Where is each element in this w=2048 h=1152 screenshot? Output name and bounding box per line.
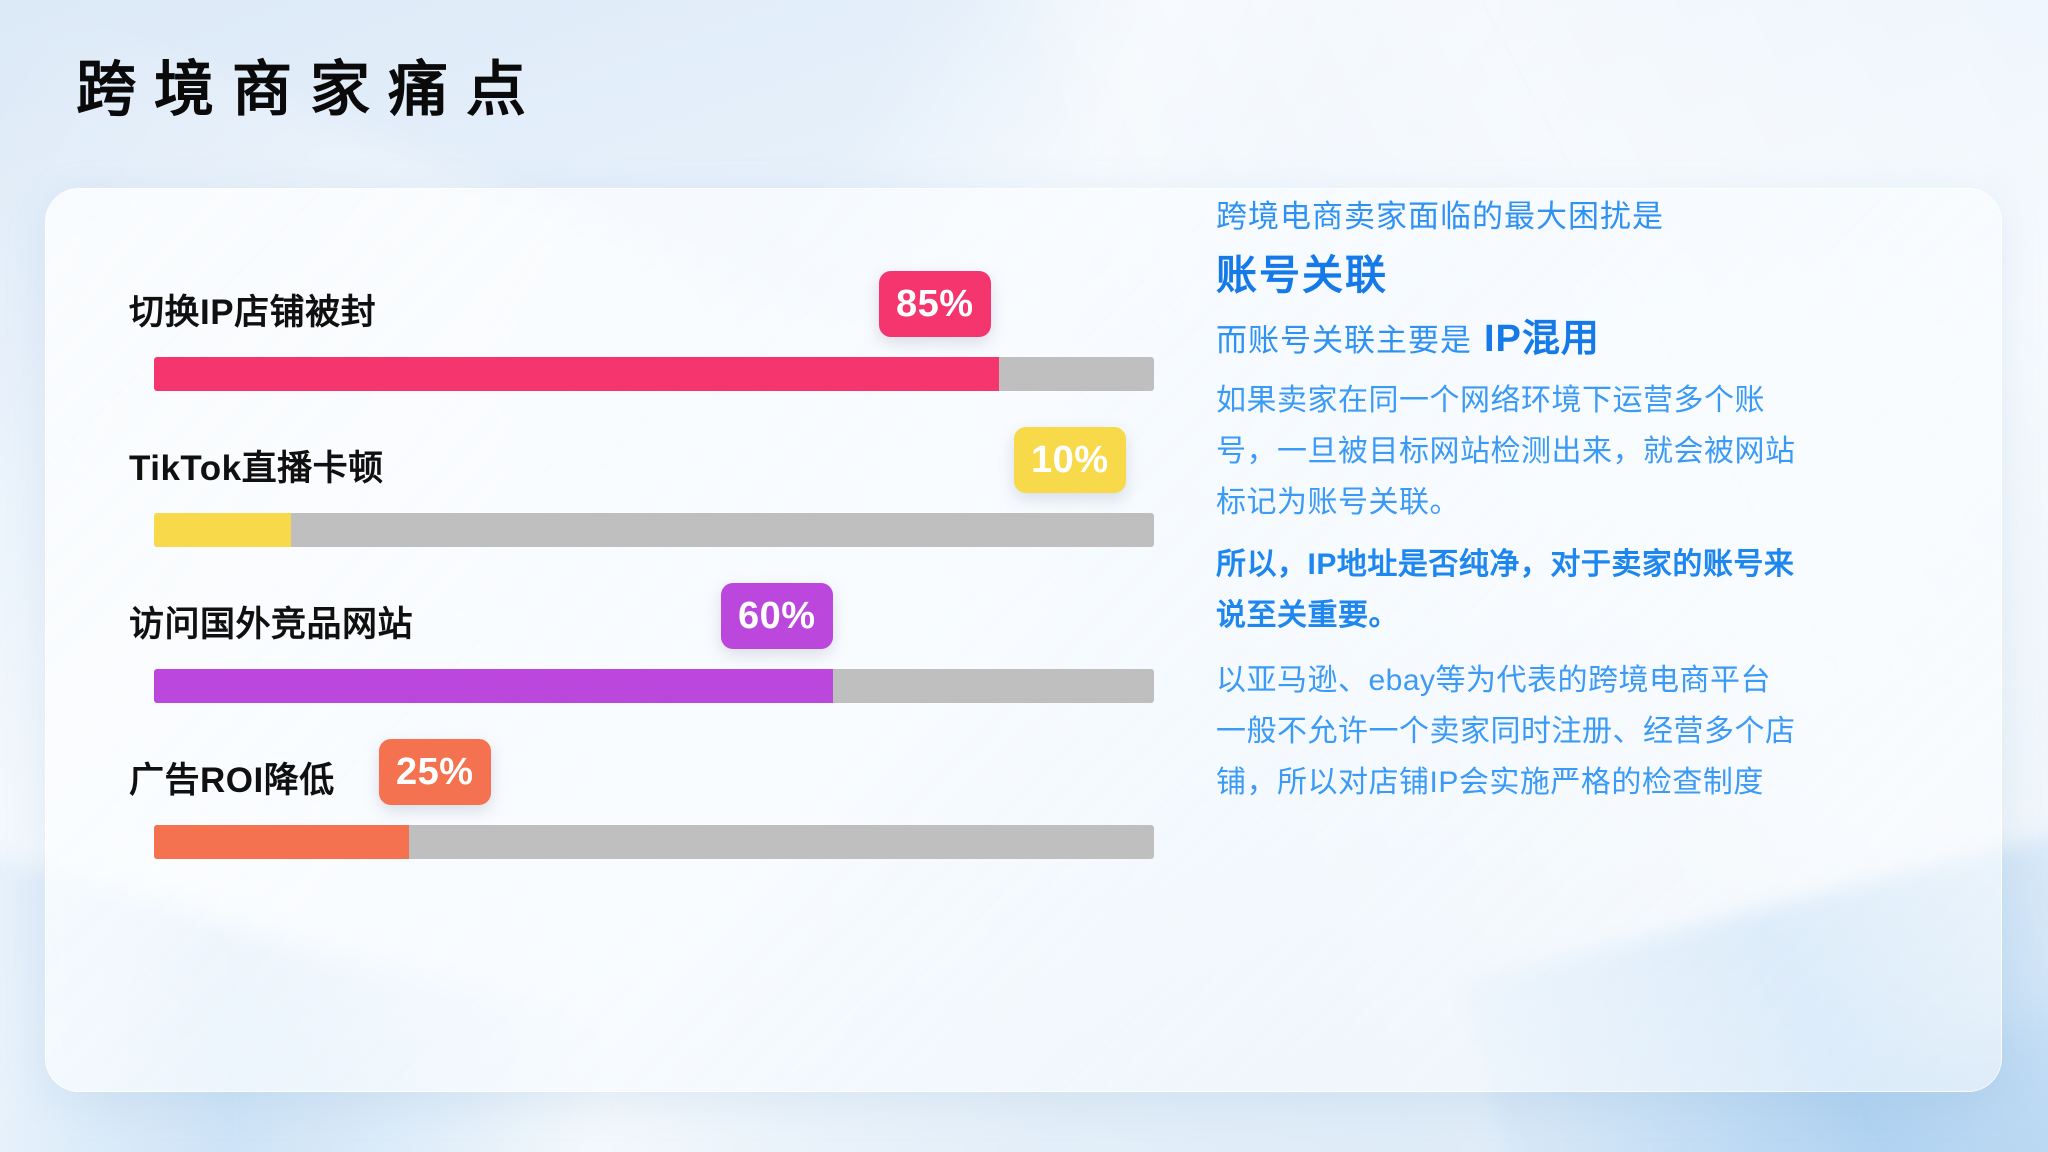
bar-fill xyxy=(154,825,409,859)
paragraph-1: 如果卖家在同一个网络环境下运营多个账号，一旦被目标网站检测出来，就会被网站标记为… xyxy=(1216,375,1796,528)
bar-header: 广告ROI降低 25% xyxy=(109,729,1174,811)
paragraph-2: 所以，IP地址是否纯净，对于卖家的账号来说至关重要。 xyxy=(1216,539,1796,641)
bar-track xyxy=(154,357,1154,391)
bar-fill xyxy=(154,357,999,391)
bar-track xyxy=(154,825,1154,859)
bar-row: 广告ROI降低 25% xyxy=(109,729,1174,881)
bar-value-badge: 60% xyxy=(721,583,833,649)
bar-header: 访问国外竞品网站 60% xyxy=(109,573,1174,655)
bar-row: 切换IP店铺被封 85% xyxy=(109,261,1174,413)
bar-label: 切换IP店铺被封 xyxy=(129,284,376,335)
bar-fill xyxy=(154,669,833,703)
bar-row: TikTok直播卡顿 10% xyxy=(109,417,1174,569)
bar-label: 访问国外竞品网站 xyxy=(129,596,413,647)
explanation-panel: 跨境电商卖家面临的最大困扰是 账号关联 而账号关联主要是IP混用 如果卖家在同一… xyxy=(1216,189,1961,1091)
bar-label: 广告ROI降低 xyxy=(129,752,335,803)
slide-canvas: 跨境商家痛点 切换IP店铺被封 85% TikTok直播卡顿 10% xyxy=(0,0,2048,1152)
bar-track xyxy=(154,513,1154,547)
sub-text-prefix: 而账号关联主要是 xyxy=(1216,323,1472,358)
bar-fill xyxy=(154,513,291,547)
highlight-text: 账号关联 xyxy=(1216,241,1388,301)
lead-text: 跨境电商卖家面临的最大困扰是 xyxy=(1216,191,1664,236)
bar-track xyxy=(154,669,1154,703)
paragraph-3: 以亚马逊、ebay等为代表的跨境电商平台一般不允许一个卖家同时注册、经营多个店铺… xyxy=(1216,655,1796,808)
pain-point-chart: 切换IP店铺被封 85% TikTok直播卡顿 10% xyxy=(109,219,1174,1061)
content-card: 切换IP店铺被封 85% TikTok直播卡顿 10% xyxy=(45,188,2002,1092)
bar-label: TikTok直播卡顿 xyxy=(129,440,384,491)
bar-value-badge: 25% xyxy=(379,739,491,805)
bar-value-badge: 10% xyxy=(1014,427,1126,493)
sub-text: 而账号关联主要是IP混用 xyxy=(1216,307,1600,362)
bar-header: TikTok直播卡顿 10% xyxy=(109,417,1174,499)
bar-value-badge: 85% xyxy=(879,271,991,337)
bar-row: 访问国外竞品网站 60% xyxy=(109,573,1174,725)
bar-header: 切换IP店铺被封 85% xyxy=(109,261,1174,343)
sub-text-emphasis: IP混用 xyxy=(1484,318,1600,360)
page-title: 跨境商家痛点 xyxy=(76,54,544,126)
